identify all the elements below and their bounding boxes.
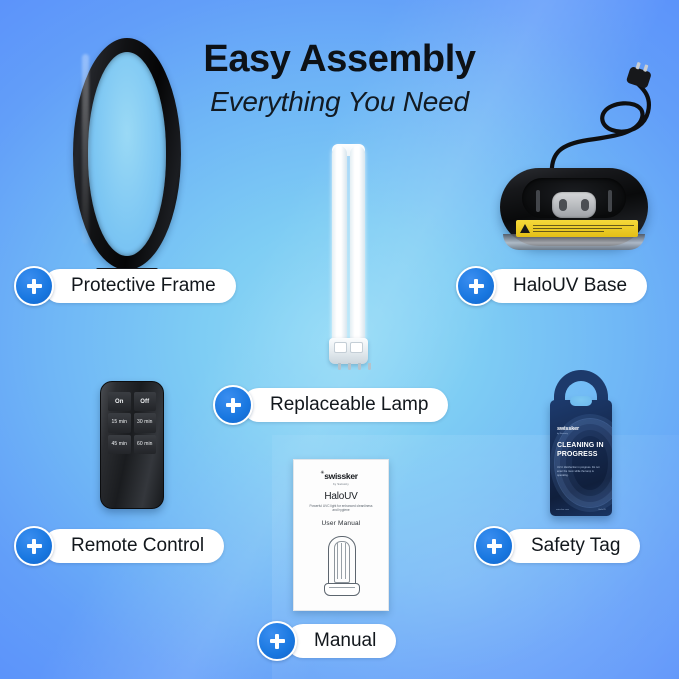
label-text-replaceable-lamp: Replaceable Lamp [242,388,448,422]
base-housing [500,168,648,246]
warning-label [516,220,638,237]
lamp-slot-right [350,342,363,353]
label-text-remote-control: Remote Control [43,529,224,563]
tag-footer-left: swissker.com [556,509,569,511]
tag-footer: swissker.com HaloUV [556,509,606,511]
remote-button-60min[interactable]: 60 min [134,435,157,454]
manual-brand-text: swissker [324,471,358,481]
plus-icon [213,385,253,425]
page-subtitle: Everything You Need [0,86,679,117]
plus-icon [14,526,54,566]
safety-tag-image: swissker by Swissity CLEANING IN PROGRES… [540,370,622,518]
manual-cover: ✳ swissker by Swissity HaloUV Powerful U… [293,459,389,611]
lamp-tube-left [332,146,347,342]
label-text-protective-frame: Protective Frame [43,269,236,303]
warning-label-text [533,225,638,233]
infographic-canvas: Easy Assembly Everything You Need [0,0,679,679]
manual-tagline: Powerful UVC light for enhanced cleanlin… [308,504,374,513]
drawing-bar-3 [345,543,346,579]
label-remote-control[interactable]: Remote Control [14,526,224,566]
manual-brand-subtext: by Swissity [333,482,349,486]
plus-icon [474,526,514,566]
socket-pin-left [559,199,567,211]
asterisk-icon: ✳ [320,470,324,476]
manual-image: ✳ swissker by Swissity HaloUV Powerful U… [293,459,389,611]
tag-headline: CLEANING IN PROGRESS [557,442,607,460]
page-title: Easy Assembly [0,40,679,80]
base-clip-right [608,190,612,212]
label-manual[interactable]: Manual [257,621,396,661]
remote-button-off[interactable]: Off [134,392,157,411]
drawing-bar-2 [341,543,342,579]
lamp-base-cap [329,338,368,364]
remote-keypad: On Off 15 min 30 min 45 min 60 min [108,392,156,454]
manual-brand-logo: ✳ swissker [324,471,358,481]
door-hanger-opening [570,396,592,406]
plus-icon [14,266,54,306]
label-text-safety-tag: Safety Tag [503,529,640,563]
label-protective-frame[interactable]: Protective Frame [14,266,236,306]
lamp-socket [552,192,596,218]
tag-footer-right: HaloUV [598,509,606,511]
remote-housing: On Off 15 min 30 min 45 min 60 min [100,381,164,509]
manual-product-drawing [324,536,358,598]
base-clip-left [536,190,540,212]
drawing-bar-1 [337,543,338,579]
remote-button-on[interactable]: On [108,392,131,411]
tag-body-text: UV-C disinfection in progress. Do not en… [557,466,605,478]
remote-button-15min[interactable]: 15 min [108,413,131,432]
drawing-base [324,583,360,596]
label-halouv-base[interactable]: HaloUV Base [456,266,647,306]
lamp-tube-right [350,146,365,342]
lamp-pins [338,363,371,370]
base-recess [522,178,626,218]
label-text-manual: Manual [286,624,396,658]
label-safety-tag[interactable]: Safety Tag [474,526,640,566]
door-hanger-card: swissker by Swissity CLEANING IN PROGRES… [550,400,612,516]
plus-icon [456,266,496,306]
remote-button-30min[interactable]: 30 min [134,413,157,432]
remote-button-45min[interactable]: 45 min [108,435,131,454]
heading-block: Easy Assembly Everything You Need [0,40,679,117]
label-text-halouv-base: HaloUV Base [485,269,647,303]
tag-brand-subtext: by Swissity [557,433,568,435]
remote-control-image: On Off 15 min 30 min 45 min 60 min [100,381,164,509]
lamp-slot-left [334,342,347,353]
label-replaceable-lamp[interactable]: Replaceable Lamp [213,385,448,425]
tag-brand-text: swissker [557,426,579,432]
socket-pin-right [581,199,589,211]
replaceable-lamp-image [323,146,375,374]
manual-model-name: HaloUV [324,491,357,502]
warning-triangle-icon [520,224,530,233]
manual-doc-type: User Manual [321,520,360,527]
plus-icon [257,621,297,661]
